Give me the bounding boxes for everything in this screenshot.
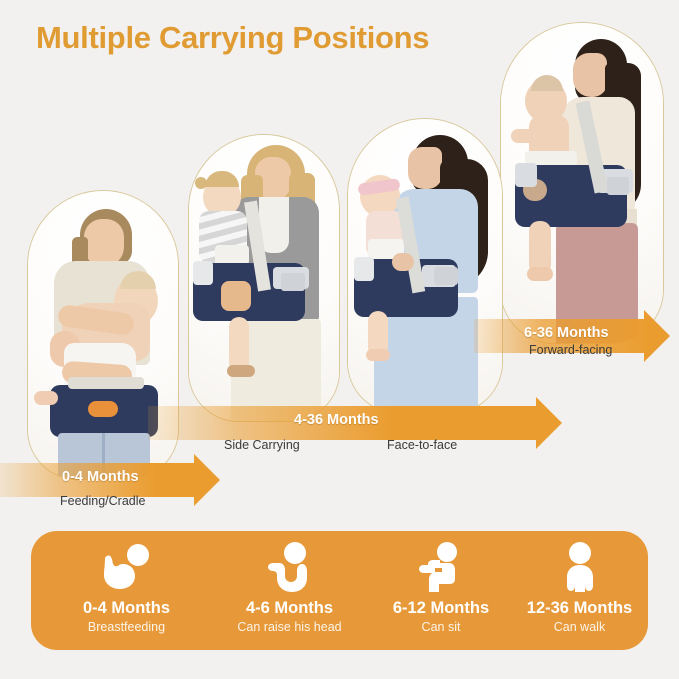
photo-forward-facing — [501, 23, 663, 343]
photo-panel-face-to-face — [347, 118, 503, 414]
photo-face-to-face — [348, 119, 502, 413]
milestone-age-4-6: 4-6 Months — [208, 599, 371, 618]
milestone-text-walk: Can walk — [511, 620, 648, 634]
milestone-raise-head: 4-6 Months Can raise his head — [208, 531, 371, 650]
milestone-age-0-4: 0-4 Months — [45, 599, 208, 618]
walking-icon — [511, 542, 648, 594]
milestone-walk: 12-36 Months Can walk — [511, 531, 648, 650]
breastfeeding-icon — [45, 542, 208, 594]
milestone-sit: 6-12 Months Can sit — [371, 531, 511, 650]
arrow-label-4-36-months: 4-36 Months — [294, 412, 379, 428]
milestones-bar: 0-4 Months Breastfeeding 4-6 Months Can … — [31, 531, 648, 650]
milestone-text-raise-head: Can raise his head — [208, 620, 371, 634]
arrow-feeding-cradle: 0-4 Months — [0, 463, 250, 497]
caption-face-to-face: Face-to-face — [387, 438, 457, 452]
caption-side-carrying: Side Carrying — [224, 438, 300, 452]
page-title: Multiple Carrying Positions — [36, 20, 429, 56]
caption-feeding-cradle: Feeding/Cradle — [60, 494, 145, 508]
milestone-age-12-36: 12-36 Months — [511, 599, 648, 618]
caption-forward-facing: Forward-facing — [529, 343, 612, 357]
photo-panel-forward-facing — [500, 22, 664, 344]
milestone-age-6-12: 6-12 Months — [371, 599, 511, 618]
milestone-breastfeeding: 0-4 Months Breastfeeding — [45, 531, 208, 650]
photo-side-carrying — [189, 135, 339, 421]
sitting-icon — [371, 542, 511, 594]
photo-panel-side-carrying — [188, 134, 340, 422]
arrow-label-feeding-cradle: 0-4 Months — [62, 469, 139, 485]
arrow-4-36-months: 4-36 Months — [148, 406, 568, 440]
infographic-root: Multiple Carrying Positions — [0, 0, 679, 679]
arrow-label-forward-facing: 6-36 Months — [524, 325, 609, 341]
milestone-text-breastfeeding: Breastfeeding — [45, 620, 208, 634]
milestone-text-sit: Can sit — [371, 620, 511, 634]
raise-head-icon — [208, 542, 371, 594]
